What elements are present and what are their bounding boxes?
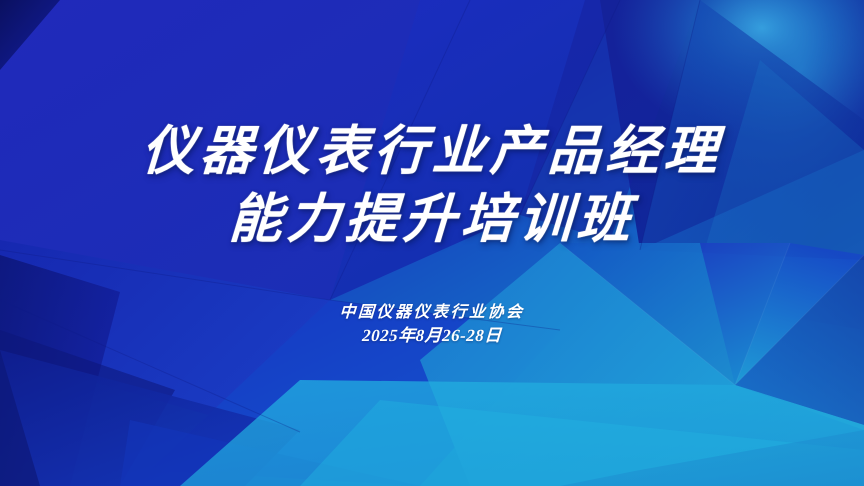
- title-block: 仪器仪表行业产品经理 能力提升培训班: [0, 118, 864, 254]
- slide-content: 仪器仪表行业产品经理 能力提升培训班 中国仪器仪表行业协会 2025年8月26-…: [0, 0, 864, 486]
- title-line-2: 能力提升培训班: [0, 186, 864, 254]
- title-line-1: 仪器仪表行业产品经理: [0, 118, 864, 186]
- subtitle-block: 中国仪器仪表行业协会 2025年8月26-28日: [0, 301, 864, 348]
- title-slide: 仪器仪表行业产品经理 能力提升培训班 中国仪器仪表行业协会 2025年8月26-…: [0, 0, 864, 486]
- event-date: 2025年8月26-28日: [0, 324, 864, 348]
- organizer-name: 中国仪器仪表行业协会: [0, 301, 864, 324]
